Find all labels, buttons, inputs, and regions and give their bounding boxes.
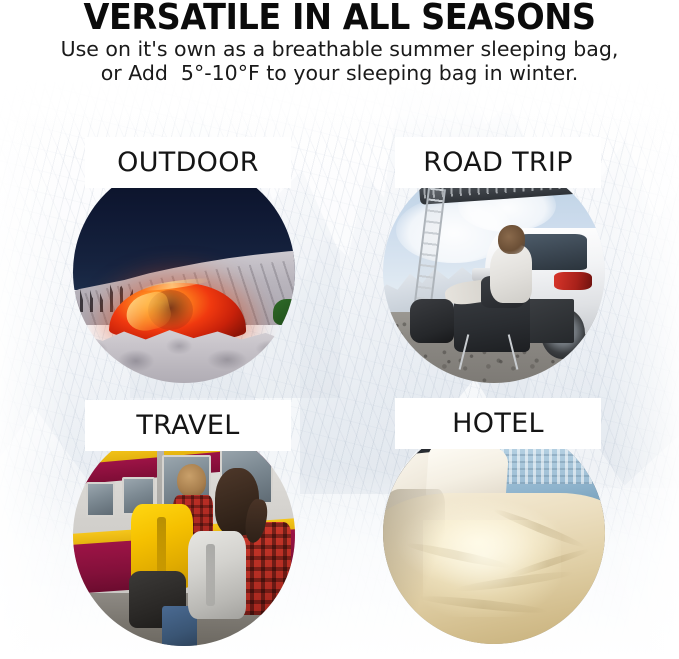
background-fade-left — [0, 78, 70, 659]
infographic-banner: VERSATILE IN ALL SEASONS Use on it's own… — [0, 0, 679, 659]
label-outdoor-text: OUTDOOR — [117, 147, 259, 178]
background-fade-right — [609, 78, 679, 659]
car-tail-light — [554, 272, 592, 290]
label-hotel: HOTEL — [395, 398, 601, 449]
page-title: VERSATILE IN ALL SEASONS — [24, 0, 655, 38]
sunlight-patch — [423, 520, 561, 618]
foreground-rocks — [73, 325, 295, 383]
photo-road-trip — [383, 161, 605, 383]
backpack-strap — [206, 544, 215, 606]
label-road-trip-text: ROAD TRIP — [423, 147, 573, 178]
shrub — [273, 299, 295, 326]
backpack-strap — [157, 517, 166, 575]
photo-travel — [73, 424, 295, 646]
label-travel: TRAVEL — [85, 400, 291, 451]
label-hotel-text: HOTEL — [452, 408, 544, 439]
label-outdoor: OUTDOOR — [85, 137, 291, 188]
photo-hotel — [383, 422, 605, 644]
person-head — [498, 225, 525, 254]
grey-backpack — [188, 531, 246, 620]
label-road-trip: ROAD TRIP — [395, 137, 601, 188]
person-torso — [490, 245, 532, 303]
train-window — [86, 482, 115, 518]
traveler-head — [177, 464, 206, 497]
header: VERSATILE IN ALL SEASONS Use on it's own… — [0, 0, 679, 85]
photo-outdoor — [73, 161, 295, 383]
subtitle-line-2: or Add 5°-10°F to your sleeping bag in w… — [0, 62, 679, 85]
label-travel-text: TRAVEL — [136, 410, 239, 441]
subtitle-line-1: Use on it's own as a breathable summer s… — [0, 38, 679, 61]
duffel-bag — [410, 299, 454, 343]
